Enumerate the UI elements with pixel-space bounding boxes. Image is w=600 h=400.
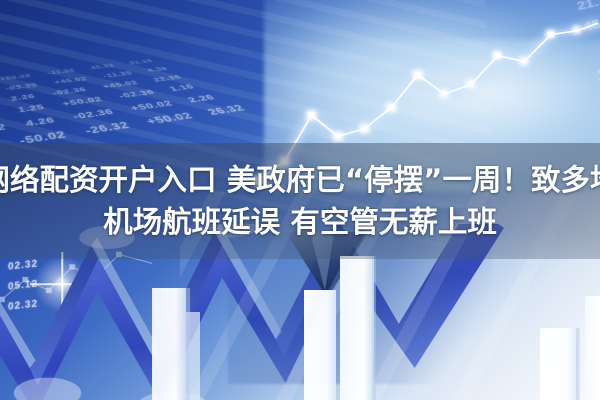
ticker-value: 2.26 xyxy=(185,93,217,104)
headline-line-1: 网络配资开户入口 美政府已“停摆”一周！致多地 xyxy=(0,160,600,200)
ticker-value: +50.02 xyxy=(128,99,175,113)
ticker-value: 4.36 xyxy=(145,65,169,72)
ticker-value: -03.35 xyxy=(5,82,39,92)
ticker-value: 1.16 xyxy=(168,83,197,93)
headline: 网络配资开户入口 美政府已“停摆”一周！致多地 机场航班延误 有空管无薪上班 xyxy=(0,143,600,259)
ticker-value: +45.02 xyxy=(101,79,140,90)
ticker-value: -02.36 xyxy=(117,89,157,101)
ticker-value: +45.02 xyxy=(53,75,89,85)
ticker-value: -11.25 xyxy=(101,70,133,79)
ticker-value: 26.32 xyxy=(205,103,248,117)
ticker-value: 22.36 xyxy=(151,74,183,83)
headline-line-2: 机场航班延误 有空管无薪上班 xyxy=(103,202,497,242)
ticker-value: -26.32 xyxy=(83,120,132,136)
ticker-value: -02.36 xyxy=(71,107,116,121)
ticker-value: +50.02 xyxy=(144,111,196,127)
ticker-value: -02.36 xyxy=(51,86,88,97)
ticker-value: +50.02 xyxy=(61,96,104,109)
ticker-value: -50.02 xyxy=(0,122,7,138)
thumbnail-image: -02.36 +50.02 -11.25 45.02 21.16 -02.36 … xyxy=(0,0,600,400)
ticker-value: 1.25 xyxy=(17,103,46,114)
ticker-value: 4.26 xyxy=(24,115,56,128)
ticker-value: 2.26 xyxy=(10,93,36,103)
